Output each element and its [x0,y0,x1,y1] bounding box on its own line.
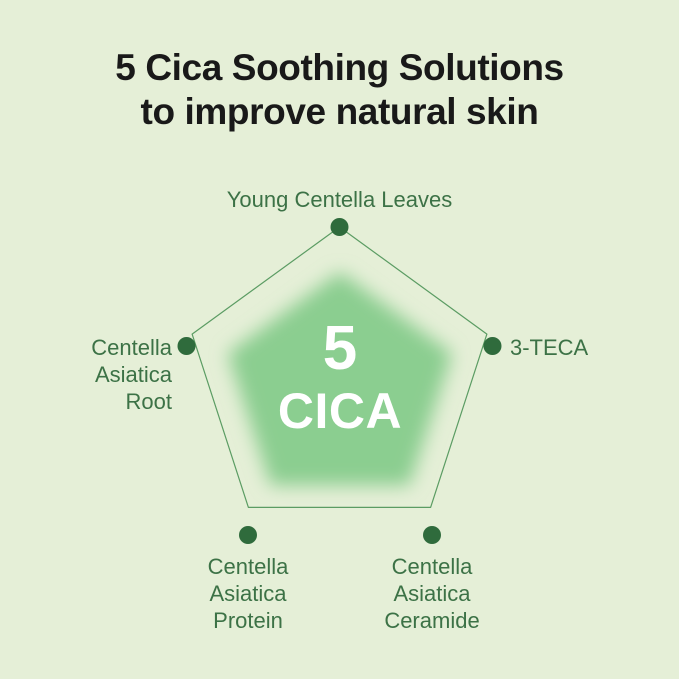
inner-pentagon-shape [228,272,452,485]
pentagon-diagram: 5 CICA Young Centella Leaves 3-TECA Cent… [0,0,679,679]
vertex-label-young-centella-leaves: Young Centella Leaves [0,186,679,213]
vertex-dot-3-teca[interactable] [484,337,502,355]
vertex-dot-young-centella-leaves[interactable] [331,218,349,236]
vertex-dot-centella-asiatica-ceramide[interactable] [423,526,441,544]
infographic-page: 5 Cica Soothing Solutions to improve nat… [0,0,679,679]
vertex-label-centella-asiatica-protein: Centella Asiatica Protein [168,553,328,634]
vertex-label-centella-asiatica-root: Centella Asiatica Root [0,334,172,415]
vertex-dot-centella-asiatica-protein[interactable] [239,526,257,544]
vertex-label-3-teca: 3-TECA [510,334,679,361]
vertex-label-centella-asiatica-ceramide: Centella Asiatica Ceramide [352,553,512,634]
vertex-dot-centella-asiatica-root[interactable] [178,337,196,355]
